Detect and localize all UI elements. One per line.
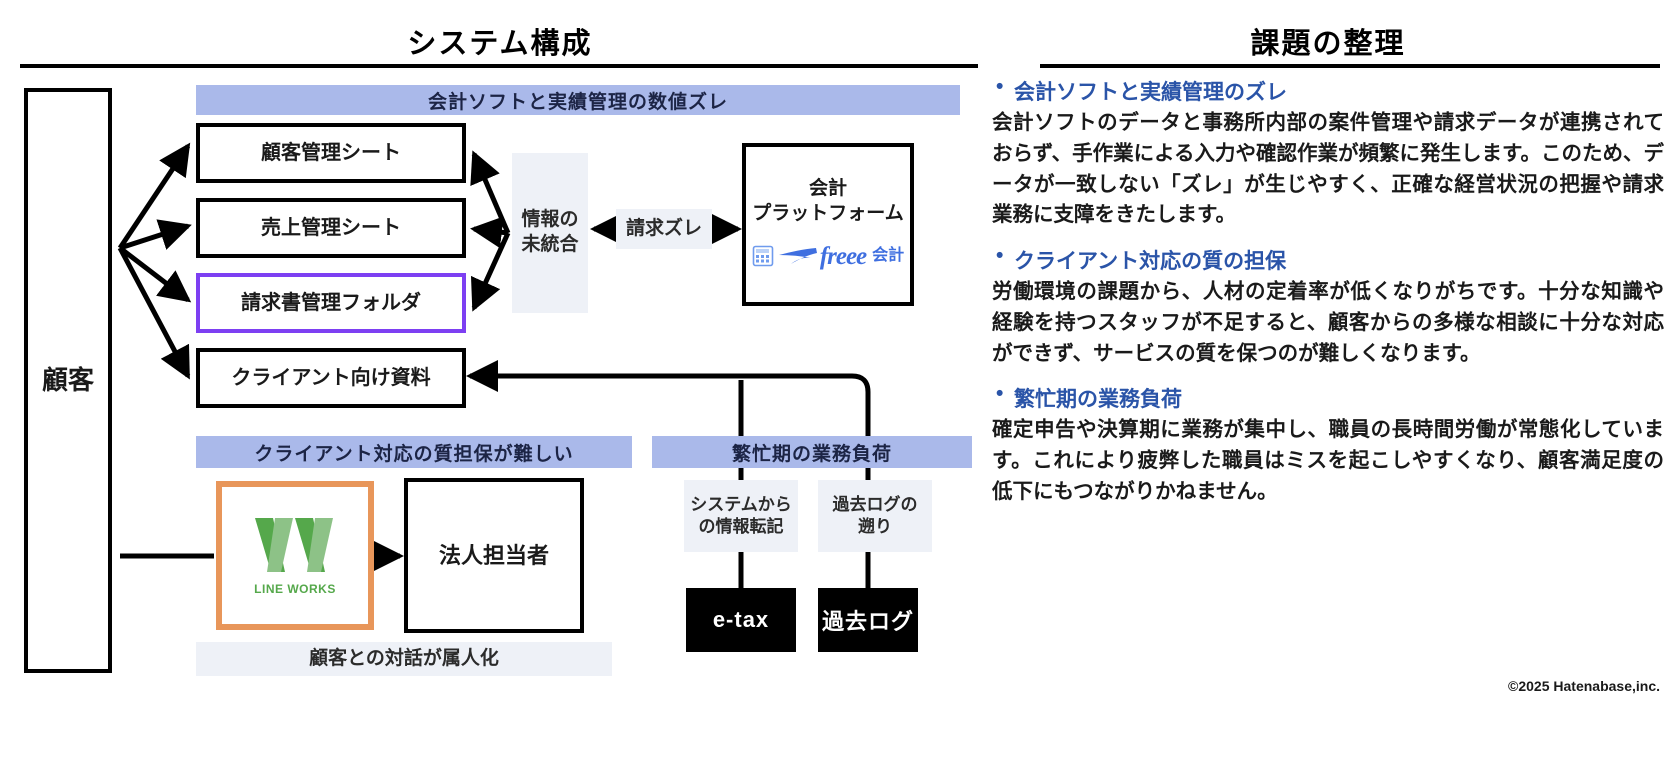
node-integration-line1: 情報の [521, 208, 578, 233]
box-sales-sheet-label: 売上管理シート [261, 216, 401, 241]
issue-heading: 会計ソフトと実績管理のズレ [992, 76, 1664, 106]
box-accounting-platform[interactable]: 会計 プラットフォーム freee 会計 [742, 143, 914, 306]
box-corporate-contact[interactable]: 法人担当者 [404, 478, 584, 633]
box-invoice-folder-label: 請求書管理フォルダ [241, 291, 421, 316]
box-past-log[interactable]: 過去ログ [818, 588, 918, 652]
box-etax[interactable]: e-tax [686, 588, 796, 652]
node-system-info-transfer: システムから の情報転記 [684, 480, 798, 552]
freee-wordmark: freee [820, 241, 866, 272]
box-customer-sheet[interactable]: 顧客管理シート [196, 123, 466, 183]
node-dialog-personalized: 顧客との対話が属人化 [196, 642, 612, 676]
issue-body: 会計ソフトのデータと事務所内部の案件管理や請求データが連携されておらず、手作業に… [992, 108, 1664, 231]
copyright-notice: ©2025 Hatenabase,inc. [1508, 678, 1660, 694]
freee-suffix: 会計 [872, 246, 904, 266]
customer-box-label: 顧客 [42, 364, 94, 397]
node-transfer-line1: システムから [690, 494, 792, 516]
issues-list: 会計ソフトと実績管理のズレ 会計ソフトのデータと事務所内部の案件管理や請求データ… [992, 76, 1664, 522]
freee-logo: freee 会計 [752, 241, 904, 272]
band-busy-season: 繁忙期の業務負荷 [652, 436, 972, 468]
platform-title-line2: プラットフォーム [752, 202, 903, 227]
issue-body: 労働環境の課題から、人材の定着率が低くなりがちです。十分な知識や経験を持つスタッ… [992, 277, 1664, 369]
issue-item: 会計ソフトと実績管理のズレ 会計ソフトのデータと事務所内部の案件管理や請求データ… [992, 76, 1664, 231]
node-billing-gap: 請求ズレ [616, 209, 712, 249]
issue-item: 繁忙期の業務負荷 確定申告や決算期に業務が集中し、職員の長時間労働が常態化してい… [992, 383, 1664, 507]
lineworks-wordmark: LINE WORKS [254, 582, 336, 597]
issue-body: 確定申告や決算期に業務が集中し、職員の長時間労働が常態化しています。これにより疲… [992, 415, 1664, 507]
platform-title: 会計 プラットフォーム [752, 177, 903, 226]
left-title-divider [20, 64, 978, 68]
box-customer-sheet-label: 顧客管理シート [261, 141, 401, 166]
node-past-log-tracing: 過去ログの 遡り [818, 480, 932, 552]
lineworks-w-icon [251, 514, 339, 576]
band-accounting-mismatch: 会計ソフトと実績管理の数値ズレ [196, 85, 960, 115]
node-integration-line2: 未統合 [521, 233, 578, 258]
issue-heading: 繁忙期の業務負荷 [992, 383, 1664, 413]
freee-swoosh-icon [777, 243, 817, 269]
left-panel-title: システム構成 [20, 20, 980, 62]
node-logs-line1: 過去ログの [833, 494, 918, 516]
platform-title-line1: 会計 [752, 177, 903, 202]
node-logs-line2: 遡り [858, 516, 892, 538]
node-information-not-integrated: 情報の 未統合 [512, 153, 588, 313]
box-client-materials-label: クライアント向け資料 [231, 366, 430, 391]
issue-item: クライアント対応の質の担保 労働環境の課題から、人材の定着率が低くなりがちです。… [992, 245, 1664, 369]
box-sales-sheet[interactable]: 売上管理シート [196, 198, 466, 258]
box-invoice-folder[interactable]: 請求書管理フォルダ [196, 273, 466, 333]
box-corporate-contact-label: 法人担当者 [439, 542, 549, 570]
node-transfer-line2: の情報転記 [699, 516, 784, 538]
customer-box[interactable]: 顧客 [24, 88, 112, 673]
box-lineworks[interactable]: LINE WORKS [216, 481, 374, 630]
right-panel-title: 課題の整理 [992, 20, 1664, 62]
band-client-quality: クライアント対応の質担保が難しい [196, 436, 632, 468]
right-title-divider [1040, 64, 1660, 68]
issue-heading: クライアント対応の質の担保 [992, 245, 1664, 275]
calculator-icon [752, 245, 774, 267]
box-client-materials[interactable]: クライアント向け資料 [196, 348, 466, 408]
